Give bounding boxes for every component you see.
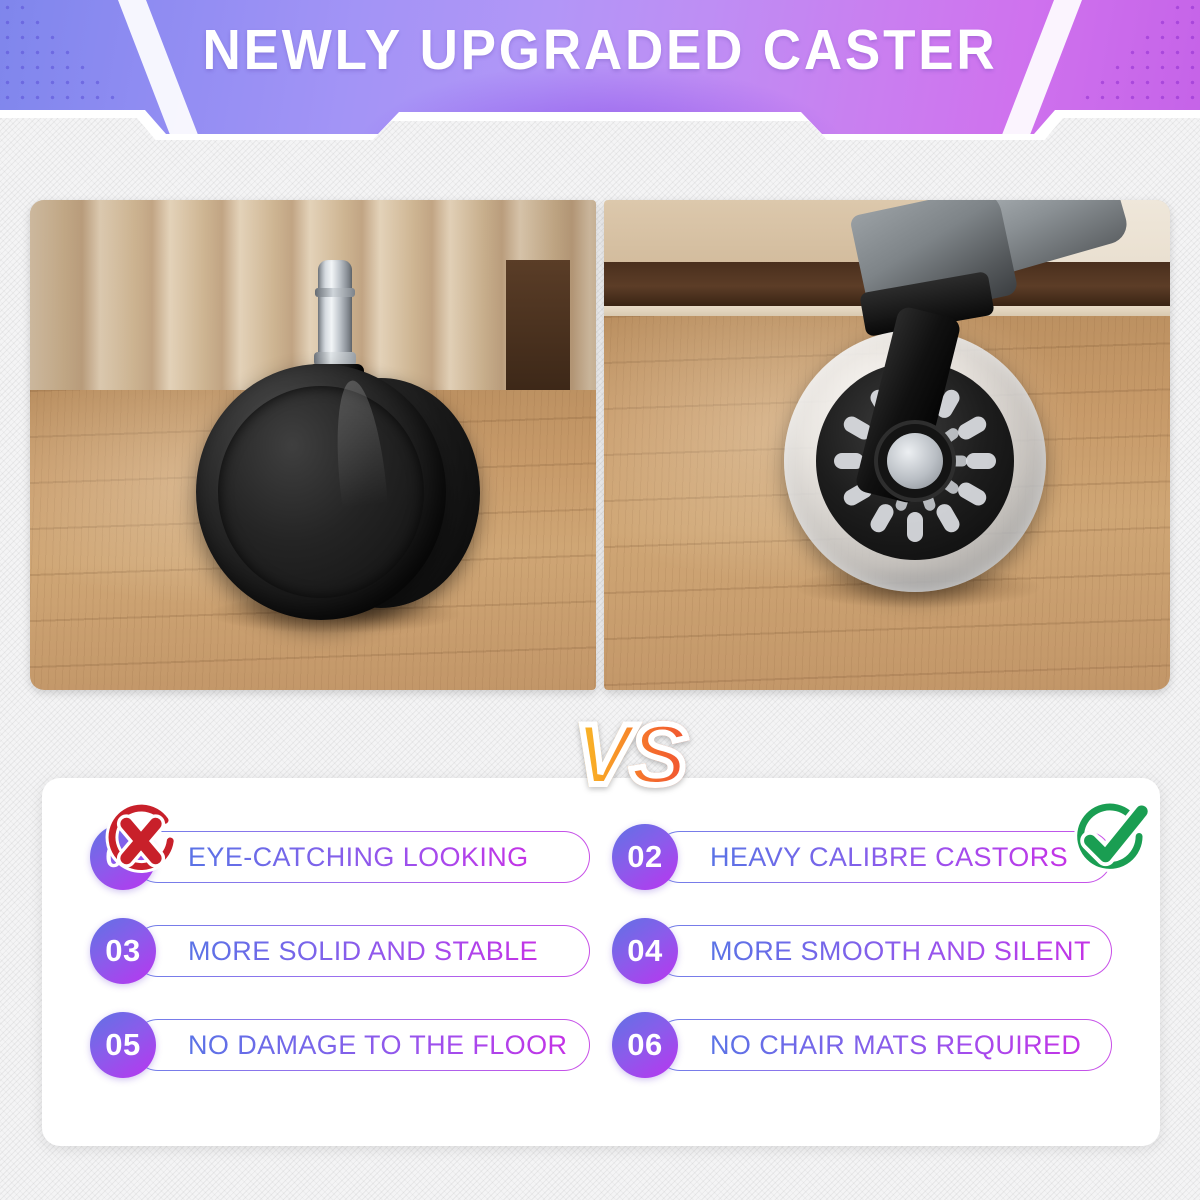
vs-badge: VS (563, 705, 697, 805)
feature-number-badge: 04 (612, 918, 678, 984)
doorway-dark (506, 260, 570, 390)
feature-label: EYE-CATCHING LOOKING (188, 842, 529, 873)
feature-item-05[interactable]: 05NO DAMAGE TO THE FLOOR (90, 1012, 590, 1078)
wheel-spoke (868, 501, 897, 535)
wheel-spoke (907, 512, 923, 542)
wheel-spoke (938, 426, 961, 447)
wheel-spoke (955, 480, 989, 509)
check-mark-icon (1066, 796, 1152, 882)
feature-label: MORE SOLID AND STABLE (188, 936, 538, 967)
feature-number-badge: 05 (90, 1012, 156, 1078)
cross-mark-icon (98, 798, 184, 884)
old-caster-photo (30, 200, 596, 690)
stem-ring (315, 288, 355, 297)
feature-item-03[interactable]: 03MORE SOLID AND STABLE (90, 918, 590, 984)
feature-number-badge: 06 (612, 1012, 678, 1078)
wheel-spoke (947, 456, 967, 467)
feature-number-badge: 02 (612, 824, 678, 890)
feature-item-04[interactable]: 04MORE SMOOTH AND SILENT (612, 918, 1112, 984)
feature-label: HEAVY CALIBRE CASTORS (710, 842, 1068, 873)
scene-right (604, 200, 1170, 690)
rollerblade-caster-illustration (754, 210, 1074, 630)
wheel-spoke (955, 414, 989, 443)
feature-label: NO CHAIR MATS REQUIRED (710, 1030, 1081, 1061)
feature-grid: 01EYE-CATCHING LOOKING02HEAVY CALIBRE CA… (90, 824, 1112, 1078)
feature-list-card: 01EYE-CATCHING LOOKING02HEAVY CALIBRE CA… (42, 778, 1160, 1146)
wheel-spoke (920, 490, 937, 512)
feature-item-06[interactable]: 06NO CHAIR MATS REQUIRED (612, 1012, 1112, 1078)
comparison-section: VS (30, 200, 1170, 690)
new-caster-photo (604, 200, 1170, 690)
wheel-spoke (934, 501, 963, 535)
black-caster-wheel-illustration (190, 260, 490, 640)
header-banner: NEWLY UPGRADED CASTER (0, 0, 1200, 140)
wheel-axle (887, 433, 943, 489)
feature-item-02[interactable]: 02HEAVY CALIBRE CASTORS (612, 824, 1112, 890)
scene-left (30, 200, 596, 690)
feature-number-badge: 03 (90, 918, 156, 984)
page-title: NEWLY UPGRADED CASTER (42, 22, 1158, 79)
feature-label: NO DAMAGE TO THE FLOOR (188, 1030, 567, 1061)
wheel-spoke (938, 475, 961, 496)
feature-label: MORE SMOOTH AND SILENT (710, 936, 1091, 967)
infographic-page: NEWLY UPGRADED CASTER (0, 0, 1200, 1200)
chrome-stem (318, 260, 352, 370)
caster-front-wheel (196, 364, 446, 620)
wheel-spoke (966, 453, 996, 469)
